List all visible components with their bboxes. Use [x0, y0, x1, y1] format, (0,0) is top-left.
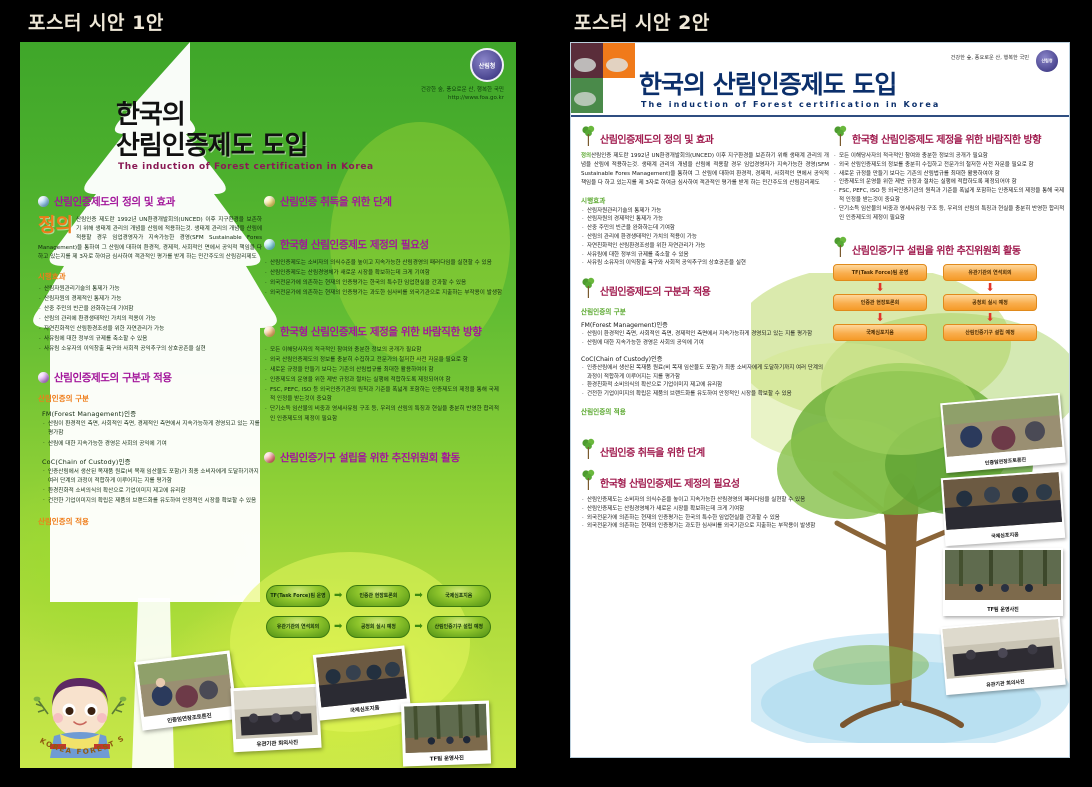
arrow-down-icon: ⬇ — [985, 312, 994, 323]
photo-stack: 인증임연장조토론진 국제심포지움 — [943, 398, 1063, 696]
arrow-down-icon: ⬇ — [875, 282, 884, 293]
slogan-block: 건강한 숲, 풍요로운 산, 행복한 국민 http://www.foa.go.… — [421, 86, 504, 103]
definition-keyword: 정의 — [581, 153, 591, 159]
section-header-classification: 산림인증제도의 구분과 적용 — [581, 277, 829, 299]
photo-image — [945, 550, 1061, 600]
list-item: 사유림에 대한 정부의 규제를 축소할 수 있음 — [581, 251, 829, 260]
arrow-right-icon: ➡ — [414, 591, 422, 601]
flow-node[interactable]: 유관기관의 연석회의 — [266, 616, 330, 638]
list-item: 산림자원관리기술의 통제가 가능 — [38, 285, 262, 294]
flow-row: TF(Task Force)팀 운영 ➡ 인증관 현장토론회 ➡ 국제심포지움 — [266, 585, 506, 607]
section-header-necessity: 한국형 산림인증제도 제정의 필요성 — [581, 469, 829, 491]
section-title: 한국형 산림인증제도 제정의 필요성 — [600, 469, 739, 490]
list-item: 자연친화적인 산림환경조성을 위한 자연관리가 가능 — [38, 325, 262, 334]
arrow-down-icon: ⬇ — [985, 282, 994, 293]
bullet-circle-icon — [264, 452, 275, 463]
list-item: 환경친화적 소비의식의 확산으로 기업이미지 제고에 유리함 — [581, 381, 829, 390]
classification-subheading: 산림인증의 구분 — [38, 393, 262, 404]
bullet-circle-icon — [38, 196, 49, 207]
arrow-down-icon: ⬇ — [875, 312, 884, 323]
bullet-circle-icon — [264, 196, 275, 207]
photo-image — [316, 649, 407, 708]
list-item: 산림에 대한 지속가능한 경영은 사회의 공익에 기여 — [42, 440, 262, 449]
definition-text: 산림인증 제도란 1992년 UN환경개발회의(UNCED) 이후 지구환경을 … — [581, 153, 829, 186]
photo-card: 국제심포지움 — [313, 645, 411, 721]
tree-bullet-icon — [833, 236, 848, 258]
tree-bullet-icon — [581, 277, 596, 299]
arrow-right-icon: ➡ — [334, 622, 342, 632]
list-item: 인증산림에서 생산된 목재품 원료(비 목재 임산물도 포함)가 최종 소비자에… — [581, 364, 829, 382]
tree-bullet-icon — [833, 125, 848, 147]
list-item: 인증산림에서 생산된 목재품 원료(비 목재 임산물도 포함)가 최종 소비자에… — [42, 468, 262, 486]
coc-label: CoC(Chain of Custody)인증 — [581, 354, 829, 363]
poster-title-line-1: 한국의 — [116, 100, 307, 131]
mascot-character: KOREA FOREST SERVICE — [28, 666, 132, 762]
flow-node[interactable]: TF(Task Force)팀 운영 — [266, 585, 330, 607]
tree-bullet-icon — [581, 438, 596, 460]
direction-list: 모든 이해당사자의 적극적인 참여와 충분한 정보의 공개가 필요함 외국 산림… — [264, 346, 504, 423]
section-header-steps: 산림인증 취득을 위한 단계 — [581, 438, 829, 460]
list-item: 단기소득 임산물의 비중과 영세사유림 구조 등, 우리의 산림의 특징과 현실… — [264, 405, 504, 423]
list-item: 사유림 소유자의 이익창출 욕구와 사회적 공익추구의 상호공존을 실현 — [581, 259, 829, 268]
photo-card: 인증임연장조토론진 — [134, 650, 238, 730]
list-item: 새로운 규정을 만들기 보다는 기존의 산림법규를 최대한 활용하여야 함 — [833, 170, 1065, 179]
list-item: 인증제도의 운영을 위한 제반 규정과 절차는 실행에 적합하도록 제정되어야 … — [264, 376, 504, 385]
list-item: 산림인증제도는 산림경영체가 새로운 시장을 확보하는데 크게 기여함 — [264, 269, 504, 278]
section-title: 산림인증 취득을 위한 단계 — [280, 194, 392, 209]
list-item: 외국전문가에 의존하는 현재의 인증평가는 한국의 특수한 임업현실을 간과할 … — [581, 514, 829, 523]
list-item: 환경친화적 소비의식의 확산으로 기업이미지 제고에 유리함 — [42, 487, 262, 496]
fm-label: FM(Forest Management)인증 — [42, 409, 262, 418]
section-header-definition: 산림인증제도의 정의 및 효과 — [581, 125, 829, 147]
section-header-necessity: 한국형 산림인증제도 제정의 필요성 — [264, 237, 504, 252]
list-item: 모든 이해당사자의 적극적인 참여와 충분한 정보의 공개가 필요함 — [833, 152, 1065, 161]
classification-subheading: 산림인증의 구분 — [581, 306, 829, 316]
poster-2: 산림청 건강한 숲, 풍요로운 산, 행복한 국민 한국의 산림인증제도 도입 … — [570, 42, 1070, 758]
section-header-classification: 산림인증제도의 구분과 적용 — [38, 370, 262, 385]
section-header-committee: 산림인증기구 설립을 위한 추진위원회 활동 — [264, 450, 504, 465]
poster-1: 산림청 건강한 숲, 풍요로운 산, 행복한 국민 http://www.foa… — [20, 42, 516, 768]
list-item: 산림에 대한 지속가능한 경영은 사회의 공익에 기여 — [581, 339, 829, 348]
necessity-list: 산림인증제도는 소비자의 의식수준을 높이고 지속가능한 산림경영의 패러다임을… — [581, 496, 829, 531]
flow-node[interactable]: 국제심포지움 — [833, 324, 927, 341]
coc-label: CoC(Chain of Custody)인증 — [42, 457, 262, 466]
tree-bullet-icon — [581, 125, 596, 147]
poster-draft-2-panel: 포스터 시안 2안 산림청 건강한 숲, 풍요로운 산, 행복한 국민 한국의 … — [546, 0, 1092, 787]
flow-node[interactable]: 공청회 실시 예정 — [943, 294, 1037, 311]
photo-card: TF팀 운영사진 — [943, 548, 1063, 616]
flow-node[interactable]: 공청회 실시 예정 — [346, 616, 410, 638]
poster-title: 한국의 산림인증제도 도입 — [116, 100, 307, 161]
list-item: 산중 주민의 빈곤을 완화하는데 기여함 — [38, 305, 262, 314]
logo-label: 산림청 — [479, 61, 496, 70]
direction-list: 모든 이해당사자의 적극적인 참여와 충분한 정보의 공개가 필요함 외국 산림… — [833, 152, 1065, 222]
flow-node[interactable]: 국제심포지움 — [427, 585, 491, 607]
flow-node[interactable]: 산림인증기구 설립 예정 — [427, 616, 491, 638]
list-item: 외국 산림인증제도의 정보를 충분히 수집하고 전문가의 철저한 사전 자문을 … — [264, 356, 504, 365]
effect-subheading: 시행효과 — [38, 271, 262, 282]
list-item: 건전한 기업이미지의 확립은 제품의 브랜드화를 유도하여 안정적인 시장을 확… — [42, 497, 262, 506]
slogan-text: 건강한 숲, 풍요로운 산, 행복한 국민 — [421, 86, 504, 94]
poster-subtitle: The induction of Forest certification in… — [118, 162, 374, 172]
poster-title-line-2: 산림인증제도 도입 — [116, 131, 307, 162]
forest-service-logo-icon: 산림청 — [470, 48, 504, 82]
list-item: 단기소득 임산물의 비중과 영세사유림 구조 등, 우리의 산림의 특징과 현실… — [833, 205, 1065, 223]
flow-column: 유관기관의 연석회의 ⬇ 공청회 실시 예정 ⬇ 산림인증기구 설립 예정 — [943, 264, 1037, 341]
photo-image — [404, 704, 488, 753]
section-header-direction: 한국형 산림인증제도 제정을 위한 바람직한 방향 — [833, 125, 1065, 147]
effect-subheading: 시행효과 — [581, 195, 829, 205]
section-title: 산림인증기구 설립을 위한 추진위원회 활동 — [280, 450, 460, 465]
agency-url: http://www.foa.go.kr — [421, 94, 504, 102]
photo-image — [138, 654, 234, 717]
flow-row: 유관기관의 연석회의 ➡ 공청회 실시 예정 ➡ 산림인증기구 설립 예정 — [266, 616, 506, 638]
list-item: 외국전문가에 의존하는 현재의 인증평가는 과도한 심사비를 외국기관으로 지출… — [264, 289, 504, 298]
definition-keyword: 정의 — [38, 216, 73, 235]
list-item: 외국전문가에 의존하는 현재의 인증평가는 한국의 특수한 임업현실을 간과할 … — [264, 279, 504, 288]
poster-draft-1-panel: 포스터 시안 1안 산림청 건강한 숲, 풍요로운 산, 행복한 국민 http… — [0, 0, 546, 787]
apply-subheading: 산림인증의 적용 — [581, 406, 829, 416]
coc-list: 인증산림에서 생산된 목재품 원료(비 목재 임산물도 포함)가 최종 소비자에… — [581, 364, 829, 399]
effect-list: 산림자원관리기술의 통제가 가능 산림자원의 경제적인 통제가 가능 산중 주민… — [581, 207, 829, 269]
necessity-list: 산림인증제도는 소비자의 의식수준을 높이고 지속가능한 산림경영의 패러다임을… — [264, 259, 504, 298]
section-title: 산림인증제도의 구분과 적용 — [600, 277, 710, 298]
list-item: 사유림에 대한 정부의 규제를 축소할 수 있음 — [38, 335, 262, 344]
list-item: 건전한 기업이미지의 확립은 제품의 브랜드화를 유도하여 안정적인 시장을 확… — [581, 390, 829, 399]
section-title: 한국형 산림인증제도 제정을 위한 바람직한 방향 — [280, 324, 481, 339]
photo-card: 유관기관 회의사진 — [940, 617, 1065, 695]
section-title: 산림인증제도의 정의 및 효과 — [54, 194, 175, 209]
committee-flowchart: TF(Task Force)팀 운영 ➡ 인증관 현장토론회 ➡ 국제심포지움 … — [266, 585, 506, 647]
poster-title: 한국의 산림인증제도 도입 — [639, 65, 896, 101]
poster-subtitle: The induction of Forest certification in… — [641, 100, 940, 109]
bullet-circle-icon — [38, 372, 49, 383]
section-title: 산림인증기구 설립을 위한 추진위원회 활동 — [852, 236, 1021, 257]
list-item: 산림자원의 경제적인 통제가 가능 — [38, 295, 262, 304]
arrow-right-icon: ➡ — [334, 591, 342, 601]
panel-1-title: 포스터 시안 1안 — [28, 8, 164, 35]
photo-card: TF팀 운영사진 — [401, 700, 491, 766]
list-item: FSC, PEFC, ISO 등 외국인증기관의 원칙과 기준을 폭넓게 포함하… — [833, 187, 1065, 205]
section-title: 한국형 산림인증제도 제정을 위한 바람직한 방향 — [852, 125, 1041, 146]
list-item: 외국전문가에 의존하는 현재의 인증평가는 과도한 심사비를 외국기관으로 지출… — [581, 522, 829, 531]
photo-card: 유관기관 회의사진 — [230, 684, 321, 753]
coc-list: 인증산림에서 생산된 목재품 원료(비 목재 임산물도 포함)가 최종 소비자에… — [42, 468, 262, 506]
bullet-circle-icon — [264, 326, 275, 337]
list-item: 산림이 환경적인 측면, 사회적인 측면, 경제적인 측면에서 지속가능하게 경… — [581, 330, 829, 339]
flow-node[interactable]: 인증관 현장토론회 — [346, 585, 410, 607]
fm-label: FM(Forest Management)인증 — [581, 320, 829, 329]
header-photo-collage — [571, 43, 635, 113]
list-item: 인증제도의 운영을 위한 제반 규정과 절차는 실행에 적합하도록 제정되어야 … — [833, 178, 1065, 187]
list-item: FSC, PEFC, ISO 등 외국인증기관의 원칙과 기준을 폭넓게 포함하… — [264, 386, 504, 404]
list-item: 자연친화적인 산림환경조성을 위한 자연관리가 가능 — [581, 242, 829, 251]
section-title: 산림인증제도의 구분과 적용 — [54, 370, 172, 385]
flow-node[interactable]: TF(Task Force)팀 운영 — [833, 264, 927, 281]
fm-list: 산림이 환경적인 측면, 사회적인 측면, 경제적인 측면에서 지속가능하게 경… — [42, 420, 262, 448]
poster-1-left-column: 산림인증제도의 정의 및 효과 정의 산림인증 제도란 1992년 UN환경개발… — [38, 194, 262, 530]
list-item: 산림자원관리기술의 통제가 가능 — [581, 207, 829, 216]
logo-label: 산림청 — [1041, 58, 1052, 64]
list-item: 산림인증제도는 소비자의 의식수준을 높이고 지속가능한 산림경영의 패러다임을… — [264, 259, 504, 268]
poster-2-right-column: 한국형 산림인증제도 제정을 위한 바람직한 방향 모든 이해당사자의 적극적인… — [833, 125, 1065, 341]
photo-image — [942, 395, 1062, 457]
committee-flowchart: TF(Task Force)팀 운영 ⬇ 인증관 현장토론회 ⬇ 국제심포지움 … — [833, 264, 1065, 341]
definition-body: 정의산림인증 제도란 1992년 UN환경개발회의(UNCED) 이후 지구환경… — [581, 152, 829, 188]
photo-caption: TF팀 운영사진 — [945, 604, 1061, 616]
list-item: 사유림 소유자의 이익창출 욕구와 사회적 공익추구의 상호공존을 실현 — [38, 345, 262, 354]
header-divider — [571, 115, 1069, 117]
list-item: 산림인증제도는 소비자의 의식수준을 높이고 지속가능한 산림경영의 패러다임을… — [581, 496, 829, 505]
flow-node[interactable]: 인증관 현장토론회 — [833, 294, 927, 311]
apply-subheading: 산림인증의 적용 — [38, 516, 262, 527]
section-title: 산림인증 취득을 위한 단계 — [600, 438, 705, 459]
flow-column: TF(Task Force)팀 운영 ⬇ 인증관 현장토론회 ⬇ 국제심포지움 — [833, 264, 927, 341]
forest-service-logo-icon: 산림청 — [1035, 49, 1059, 73]
section-header-committee: 산림인증기구 설립을 위한 추진위원회 활동 — [833, 236, 1065, 258]
photo-caption: 국제심포지움 — [947, 526, 1064, 546]
photo-card: 인증임연장조토론진 — [940, 393, 1066, 473]
tree-bullet-icon — [581, 469, 596, 491]
effect-list: 산림자원관리기술의 통제가 가능 산림자원의 경제적인 통제가 가능 산중 주민… — [38, 285, 262, 354]
list-item: 산중 주민의 빈곤을 완화하는데 기여함 — [581, 224, 829, 233]
list-item: 산림이 환경적인 측면, 사회적인 측면, 경제적인 측면에서 지속가능하게 경… — [42, 420, 262, 438]
fm-list: 산림이 환경적인 측면, 사회적인 측면, 경제적인 측면에서 지속가능하게 경… — [581, 330, 829, 348]
arrow-right-icon: ➡ — [414, 622, 422, 632]
flow-node[interactable]: 유관기관의 연석회의 — [943, 264, 1037, 281]
screenshot-root: 포스터 시안 1안 산림청 건강한 숲, 풍요로운 산, 행복한 국민 http… — [0, 0, 1092, 787]
section-header-steps: 산림인증 취득을 위한 단계 — [264, 194, 504, 209]
list-item: 외국 산림인증제도의 정보를 충분히 수집하고 전문가의 철저한 사전 자문을 … — [833, 161, 1065, 170]
photo-card: 국제심포지움 — [941, 470, 1065, 546]
list-item: 산림의 관리에 환경생태적인 가치의 적용이 가능 — [38, 315, 262, 324]
flow-node[interactable]: 산림인증기구 설립 예정 — [943, 324, 1037, 341]
list-item: 산림인증제도는 산림경영체가 새로운 시장을 확보하는데 크게 기여함 — [581, 505, 829, 514]
definition-block: 정의 산림인증 제도란 1992년 UN환경개발회의(UNCED) 이후 지구환… — [38, 216, 262, 262]
list-item: 새로운 규정을 만들기 보다는 기존의 산림법규를 최대한 활용하여야 함 — [264, 366, 504, 375]
list-item: 산림의 관리에 환경생태적인 가치의 적용이 가능 — [581, 233, 829, 242]
photo-image — [943, 472, 1062, 530]
list-item: 모든 이해당사자의 적극적인 참여와 충분한 정보의 공개가 필요함 — [264, 346, 504, 355]
photo-image — [942, 619, 1062, 679]
poster-2-left-column: 산림인증제도의 정의 및 효과 정의산림인증 제도란 1992년 UN환경개발회… — [581, 125, 829, 531]
slogan-text: 건강한 숲, 풍요로운 산, 행복한 국민 — [951, 54, 1029, 61]
list-item: 산림자원의 경제적인 통제가 가능 — [581, 215, 829, 224]
photo-image — [234, 687, 318, 740]
section-header-definition: 산림인증제도의 정의 및 효과 — [38, 194, 262, 209]
poster-1-right-column: 산림인증 취득을 위한 단계 한국형 산림인증제도 제정의 필요성 산림인증제도… — [264, 194, 504, 472]
section-title: 한국형 산림인증제도 제정의 필요성 — [280, 237, 429, 252]
panel-2-title: 포스터 시안 2안 — [574, 8, 710, 35]
section-header-direction: 한국형 산림인증제도 제정을 위한 바람직한 방향 — [264, 324, 504, 339]
bullet-circle-icon — [264, 239, 275, 250]
section-title: 산림인증제도의 정의 및 효과 — [600, 125, 713, 146]
